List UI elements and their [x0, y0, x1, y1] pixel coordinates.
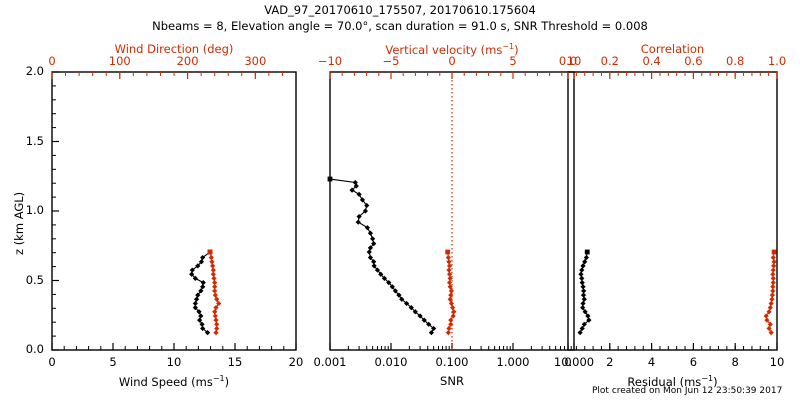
panel1-toptick-200: 200 [177, 54, 199, 68]
panel2-xtick-10000: 10.000 [554, 355, 594, 369]
panel2-toptick-0: 0 [448, 54, 455, 68]
panel1-xtick-10: 10 [167, 355, 182, 369]
panel3-xtick-8: 8 [732, 355, 739, 369]
panel2-xtick-0010: 0.010 [375, 355, 408, 369]
panel3-toptick-0n8: 0.8 [726, 54, 744, 68]
panel1-series-wind-speed [189, 250, 212, 336]
panel1-x-axis-label-text: Wind Speed (ms−1) [119, 375, 229, 389]
panel2-series-vertical-velocity [445, 250, 456, 336]
y-tick-0-0: 0.0 [26, 342, 44, 356]
panel1-toptick-0: 0 [48, 54, 55, 68]
panel2-series-snr [328, 177, 437, 336]
panel1-toptick-300: 300 [244, 54, 266, 68]
panel2-toptick-n5: −5 [383, 54, 400, 68]
panel1-toptick-100: 100 [109, 54, 131, 68]
panel2-toptick-5: 5 [509, 54, 516, 68]
panel3-toptick-0n0: 0.0 [559, 54, 577, 68]
panel3-series-correlation [764, 250, 777, 336]
y-tick-1-0: 1.0 [26, 203, 44, 217]
panel3-top-axis-label: Correlation [568, 42, 777, 56]
plot-subtitle: Nbeams = 8, Elevation angle = 70.0°, sca… [0, 19, 800, 33]
plot-title: VAD_97_20170610_175507, 20170610.175604 [0, 3, 800, 17]
y-tick-1-5: 1.5 [26, 134, 44, 148]
panel1-xtick-20: 20 [289, 355, 304, 369]
panel3-toptick-1n0: 1.0 [768, 54, 786, 68]
panel3-series-residual [578, 250, 592, 336]
panel2-xtick-0100: 0.100 [436, 355, 469, 369]
panel3-toptick-0n6: 0.6 [684, 54, 702, 68]
panel2-x-axis-label: SNR [330, 374, 574, 388]
panel1-series-wind-direction [208, 250, 222, 336]
plot-timestamp: Plot created on Mon Jun 12 23:50:39 2017 [592, 386, 782, 396]
panel1-xtick-0: 0 [48, 355, 55, 369]
panel1-xtick-15: 15 [228, 355, 243, 369]
y-tick-2-0: 2.0 [26, 64, 44, 78]
panel2-toptick-n10: −10 [318, 54, 342, 68]
panel3-toptick-0n4: 0.4 [642, 54, 660, 68]
y-tick-0-5: 0.5 [26, 273, 44, 287]
panel3-xtick-6: 6 [690, 355, 697, 369]
plot-canvas: VAD_97_20170610_175507, 20170610.175604 … [0, 0, 800, 400]
panel1-xtick-5: 5 [109, 355, 116, 369]
panel2-xtick-1000: 1.000 [497, 355, 530, 369]
panel3-xtick-0: 0 [564, 355, 571, 369]
panel3-toptick-0n2: 0.2 [601, 54, 619, 68]
panel3-xtick-4: 4 [648, 355, 655, 369]
panel3-xtick-10: 10 [770, 355, 785, 369]
y-axis-label: z (km AGL) [12, 192, 26, 255]
panel3-xtick-2: 2 [606, 355, 613, 369]
panel1-x-axis-label: Wind Speed (ms−1) [52, 374, 296, 389]
panel2-xtick-0001: 0.001 [314, 355, 347, 369]
